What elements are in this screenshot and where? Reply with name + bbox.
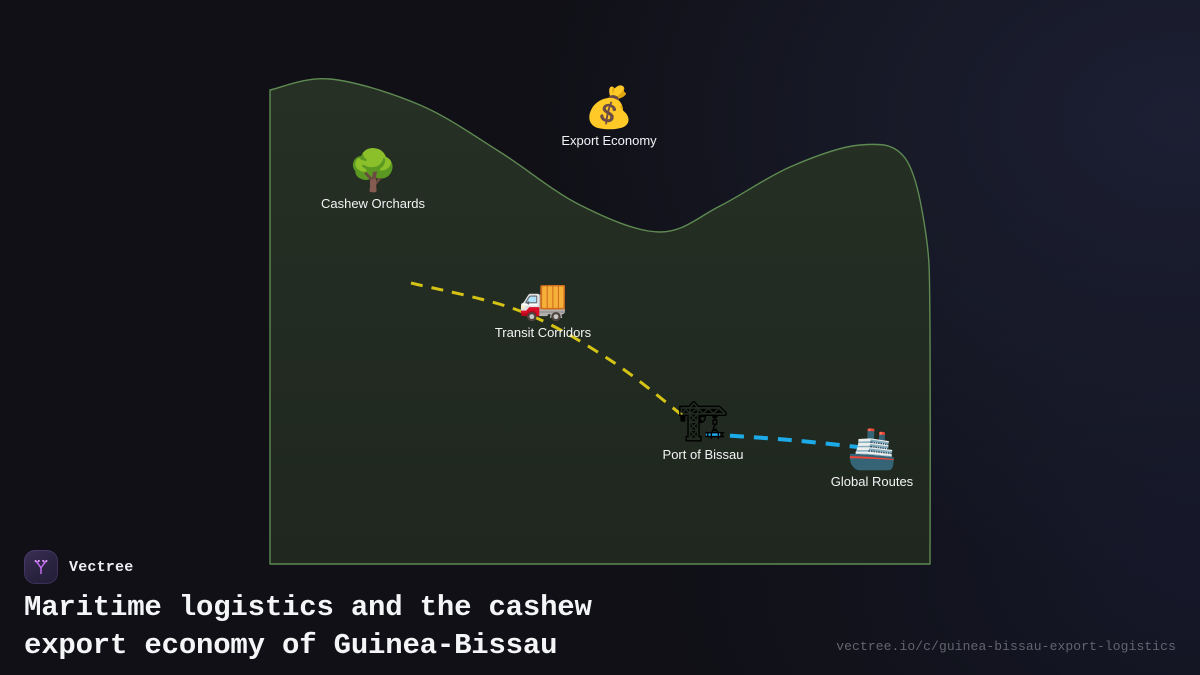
page-title-line-1: Maritime logistics and the cashew: [24, 589, 784, 627]
node-label-global-routes: Global Routes: [787, 474, 957, 490]
vectree-sprout-icon: [24, 550, 58, 584]
page-title-line-2: export economy of Guinea-Bissau: [24, 627, 784, 665]
node-label-transit-corridors: Transit Corridors: [458, 325, 628, 341]
passenger-ship-icon: 🚢: [787, 426, 957, 472]
brand-lockup[interactable]: Vectree: [24, 550, 133, 584]
page-title: Maritime logistics and the cashew export…: [24, 589, 784, 665]
node-export-economy[interactable]: 💰 Export Economy: [524, 85, 694, 149]
chart-figure: 🌳 Cashew Orchards 💰 Export Economy 🚚 Tra…: [0, 0, 1200, 580]
money-bag-icon: 💰: [524, 85, 694, 131]
node-label-cashew-orchards: Cashew Orchards: [288, 196, 458, 212]
tree-icon: 🌳: [288, 148, 458, 194]
node-port-of-bissau[interactable]: 🏗 Port of Bissau: [618, 399, 788, 463]
node-cashew-orchards[interactable]: 🌳 Cashew Orchards: [288, 148, 458, 212]
footer: Vectree Maritime logistics and the cashe…: [0, 540, 1200, 675]
source-url: vectree.io/c/guinea-bissau-export-logist…: [836, 639, 1176, 654]
infographic-page: 🌳 Cashew Orchards 💰 Export Economy 🚚 Tra…: [0, 0, 1200, 675]
construction-crane-icon: 🏗: [618, 399, 788, 445]
node-label-port-of-bissau: Port of Bissau: [618, 447, 788, 463]
brand-name: Vectree: [69, 559, 133, 576]
node-transit-corridors[interactable]: 🚚 Transit Corridors: [458, 277, 628, 341]
node-label-export-economy: Export Economy: [524, 133, 694, 149]
delivery-truck-icon: 🚚: [458, 277, 628, 323]
node-global-routes[interactable]: 🚢 Global Routes: [787, 426, 957, 490]
